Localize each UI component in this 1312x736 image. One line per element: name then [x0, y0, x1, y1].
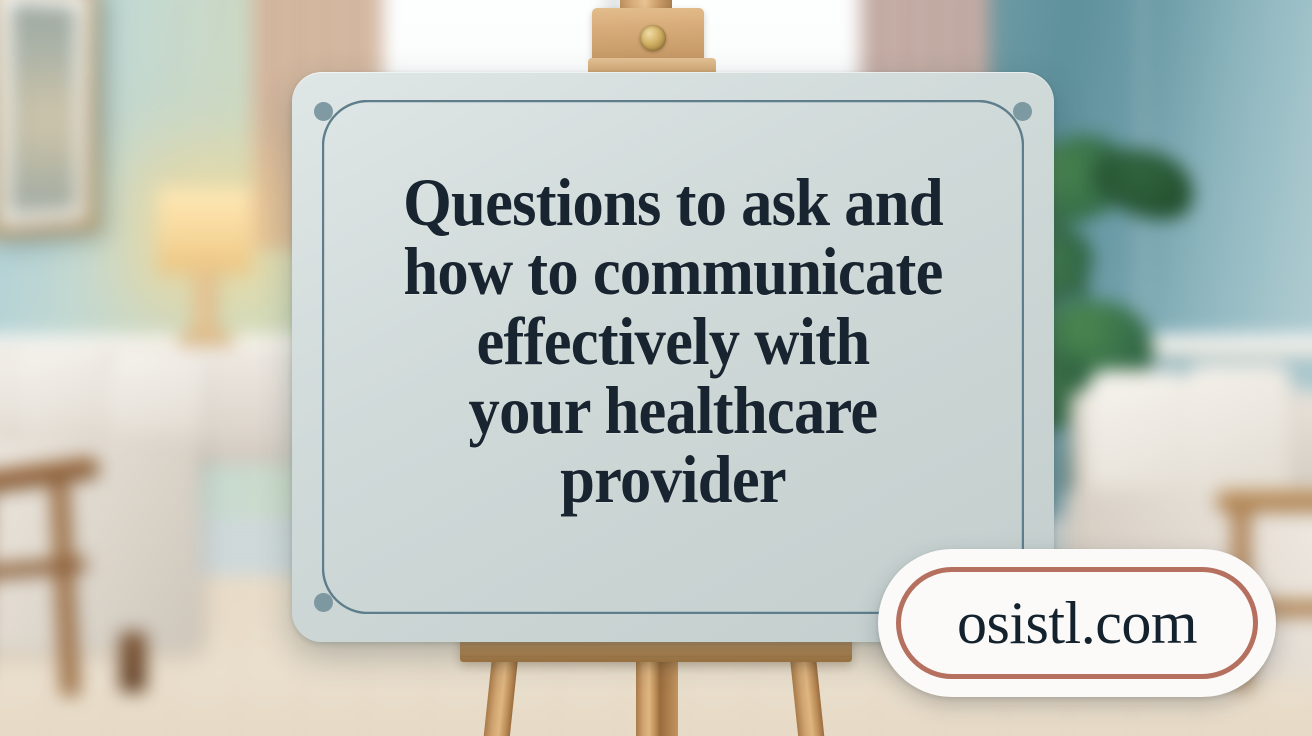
- poster-canvas: Questions to ask and how to communicate …: [0, 0, 1312, 736]
- easel-leg-center-rear: [660, 658, 678, 736]
- easel-leg-center: [636, 658, 660, 736]
- corner-dot: [1013, 102, 1032, 121]
- site-badge[interactable]: osistl.com: [878, 549, 1276, 697]
- corner-dot: [314, 102, 333, 121]
- framed-artwork: [0, 0, 97, 239]
- title-line: your healthcare: [376, 376, 970, 445]
- title-line: provider: [376, 445, 970, 514]
- artwork-image: [11, 3, 75, 212]
- sofa-cushion: [1184, 364, 1292, 500]
- side-table-top: [1216, 490, 1312, 512]
- brass-knob-icon: [640, 25, 666, 51]
- corner-dot: [314, 593, 333, 612]
- title-line: Questions to ask and: [376, 168, 970, 237]
- page-title: Questions to ask and how to communicate …: [376, 168, 970, 515]
- title-line: how to communicate: [376, 237, 970, 306]
- title-line: effectively with: [376, 307, 970, 376]
- badge-label: osistl.com: [957, 593, 1197, 653]
- artwork-mat: [0, 0, 88, 229]
- sofa-leg: [120, 632, 146, 692]
- lamp-shade: [158, 188, 252, 274]
- sofa-cushion: [1088, 370, 1188, 500]
